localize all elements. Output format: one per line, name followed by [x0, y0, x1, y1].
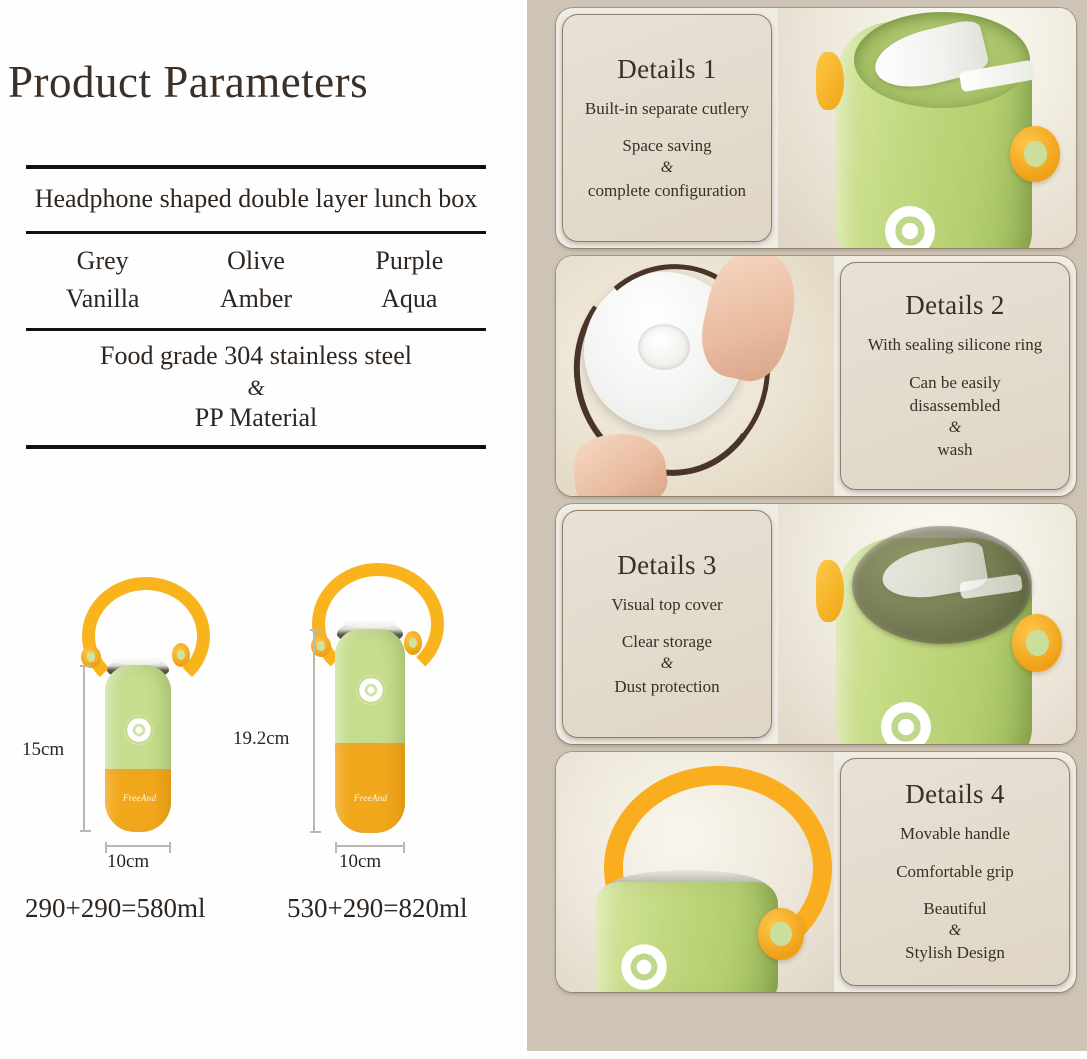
- spec-table: Headphone shaped double layer lunch box …: [26, 165, 486, 449]
- lid-gloss: [343, 619, 397, 628]
- brand-logo-ring-icon: [356, 675, 386, 705]
- detail-4-photo: [556, 752, 834, 992]
- detail-1-line-1: Built-in separate cutlery: [581, 97, 753, 120]
- product-name: Headphone shaped double layer lunch box: [26, 169, 486, 231]
- detail-2-line-3: disassembled: [906, 394, 1005, 417]
- detail-2-caption: Details 2 With sealing silicone ring Can…: [840, 262, 1070, 490]
- color-options: Grey Olive Purple Vanilla Amber Aqua: [26, 234, 486, 329]
- lid-gloss: [112, 656, 164, 665]
- detail-3-ampersand: &: [661, 654, 673, 675]
- brand-logo-ring-icon: [612, 938, 676, 992]
- material-spec: Food grade 304 stainless steel & PP Mate…: [26, 331, 486, 445]
- brand-logo-ring-icon: [124, 715, 154, 745]
- detail-1-line-2: Space saving: [618, 134, 715, 157]
- bottle-lower-section: [335, 743, 405, 833]
- rule-bottom: [26, 445, 486, 449]
- height-label: 15cm: [22, 739, 64, 761]
- hinge-right-icon: [404, 631, 422, 655]
- hinge-tab-left-icon: [816, 560, 844, 622]
- color-purple: Purple: [333, 243, 486, 280]
- detail-3-title: Details 3: [617, 550, 716, 581]
- detail-1-photo: [778, 8, 1076, 248]
- brand-text: FreeAnd: [354, 793, 387, 803]
- hinge-tab-left-icon: [816, 52, 844, 110]
- detail-2-title: Details 2: [905, 290, 1004, 321]
- detail-2-line-4: wash: [934, 438, 977, 461]
- size-diagrams: FreeAnd 15cm 10cm: [0, 565, 527, 895]
- color-amber: Amber: [179, 281, 332, 318]
- width-dimension-line: [105, 845, 171, 847]
- detail-1-caption: Details 1 Built-in separate cutlery Spac…: [562, 14, 772, 242]
- product-parameters-panel: Product Parameters Headphone shaped doub…: [0, 0, 527, 1059]
- volume-label-small: 290+290=580ml: [25, 893, 205, 924]
- detail-3-line-2: Clear storage: [618, 630, 716, 653]
- brand-text: FreeAnd: [123, 793, 156, 803]
- hinge-right-icon: [1010, 126, 1060, 182]
- detail-4-title: Details 4: [905, 779, 1004, 810]
- detail-2-line-1: With sealing silicone ring: [864, 333, 1046, 356]
- detail-block-1: Details 1 Built-in separate cutlery Spac…: [556, 8, 1076, 248]
- detail-4-line-2: Comfortable grip: [892, 860, 1018, 883]
- detail-1-line-3: complete configuration: [584, 179, 750, 202]
- hinge-right-icon: [758, 908, 804, 960]
- width-label: 10cm: [107, 851, 149, 873]
- hinge-right-icon: [1012, 614, 1062, 672]
- detail-4-line-1: Movable handle: [896, 822, 1014, 845]
- color-olive: Olive: [179, 243, 332, 280]
- height-dimension-line: [83, 665, 85, 832]
- detail-block-4: Details 4 Movable handle Comfortable gri…: [556, 752, 1076, 992]
- detail-block-2: Details 2 With sealing silicone ring Can…: [556, 256, 1076, 496]
- detail-4-ampersand: &: [949, 921, 961, 942]
- page-title: Product Parameters: [8, 56, 518, 108]
- bottle-body: [105, 665, 171, 832]
- hinge-right-icon: [172, 643, 190, 667]
- material-line-2: PP Material: [195, 403, 318, 432]
- detail-4-line-3: Beautiful: [919, 897, 990, 920]
- detail-4-line-4: Stylish Design: [901, 941, 1009, 964]
- detail-2-ampersand: &: [949, 418, 961, 439]
- detail-1-title: Details 1: [617, 54, 716, 85]
- color-aqua: Aqua: [333, 281, 486, 318]
- infographic-page: Product Parameters Headphone shaped doub…: [0, 0, 1087, 1059]
- width-dimension-line: [335, 845, 405, 847]
- width-label: 10cm: [339, 851, 381, 873]
- detail-2-photo: [556, 256, 834, 496]
- height-label: 19.2cm: [233, 728, 289, 750]
- height-dimension-line: [313, 629, 315, 833]
- detail-1-ampersand: &: [661, 158, 673, 179]
- color-vanilla: Vanilla: [26, 281, 179, 318]
- detail-3-caption: Details 3 Visual top cover Clear storage…: [562, 510, 772, 738]
- detail-3-line-3: Dust protection: [610, 675, 723, 698]
- volume-label-large: 530+290=820ml: [287, 893, 467, 924]
- material-line-1: Food grade 304 stainless steel: [100, 341, 412, 370]
- details-panel: Details 1 Built-in separate cutlery Spac…: [527, 0, 1087, 1051]
- color-grey: Grey: [26, 243, 179, 280]
- material-ampersand: &: [26, 374, 486, 402]
- detail-3-line-1: Visual top cover: [607, 593, 726, 616]
- detail-4-caption: Details 4 Movable handle Comfortable gri…: [840, 758, 1070, 986]
- detail-3-photo: [778, 504, 1076, 744]
- detail-2-line-2: Can be easily: [905, 371, 1005, 394]
- detail-block-3: Details 3 Visual top cover Clear storage…: [556, 504, 1076, 744]
